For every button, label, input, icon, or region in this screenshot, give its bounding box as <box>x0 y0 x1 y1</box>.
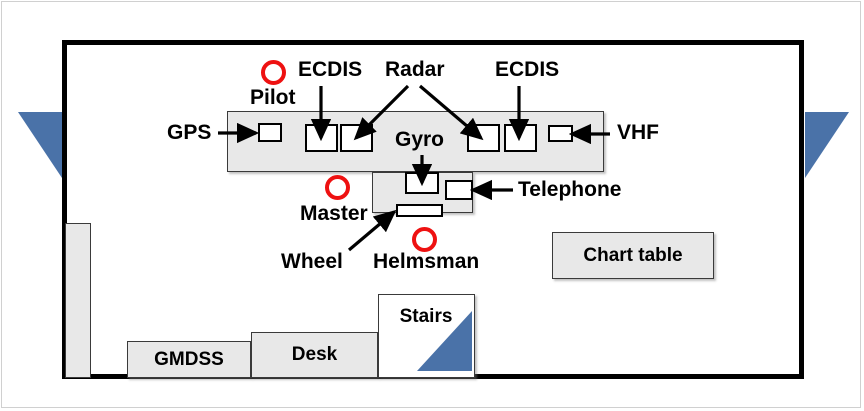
radar-unit-right[interactable] <box>467 124 500 152</box>
bridge-layout-diagram: Chart table GMDSS Desk Stairs GPS Pilot <box>0 0 864 411</box>
ecdis-unit-right[interactable] <box>504 124 537 152</box>
master-position-marker[interactable] <box>325 175 350 200</box>
gps-label: GPS <box>167 122 211 143</box>
ecdis-right-label: ECDIS <box>495 59 559 80</box>
gyro-label: Gyro <box>395 129 444 150</box>
desk-label: Desk <box>251 332 378 378</box>
wheel-unit[interactable] <box>396 204 443 217</box>
helmsman-position-marker[interactable] <box>412 227 437 252</box>
wheel-label: Wheel <box>281 251 343 272</box>
radar-label: Radar <box>385 59 445 80</box>
pilot-label: Pilot <box>250 87 296 108</box>
port-wall-cabinet[interactable] <box>65 223 91 378</box>
stairs-label: Stairs <box>386 303 466 331</box>
gyro-unit[interactable] <box>405 172 439 194</box>
vhf-label: VHF <box>617 122 659 143</box>
radar-unit-left[interactable] <box>340 124 373 152</box>
ecdis-unit-left[interactable] <box>305 124 338 152</box>
master-label: Master <box>300 203 368 224</box>
port-bridge-wing-triangle <box>18 112 62 178</box>
starboard-bridge-wing-triangle <box>805 112 849 178</box>
chart-table-label: Chart table <box>552 232 714 279</box>
vhf-unit[interactable] <box>548 125 573 142</box>
ecdis-left-label: ECDIS <box>298 59 362 80</box>
helmsman-label: Helmsman <box>373 251 479 272</box>
gmdss-label: GMDSS <box>127 341 251 378</box>
telephone-label: Telephone <box>518 179 621 200</box>
pilot-position-marker[interactable] <box>261 60 286 85</box>
gps-unit[interactable] <box>258 123 282 142</box>
telephone-unit[interactable] <box>445 180 473 200</box>
